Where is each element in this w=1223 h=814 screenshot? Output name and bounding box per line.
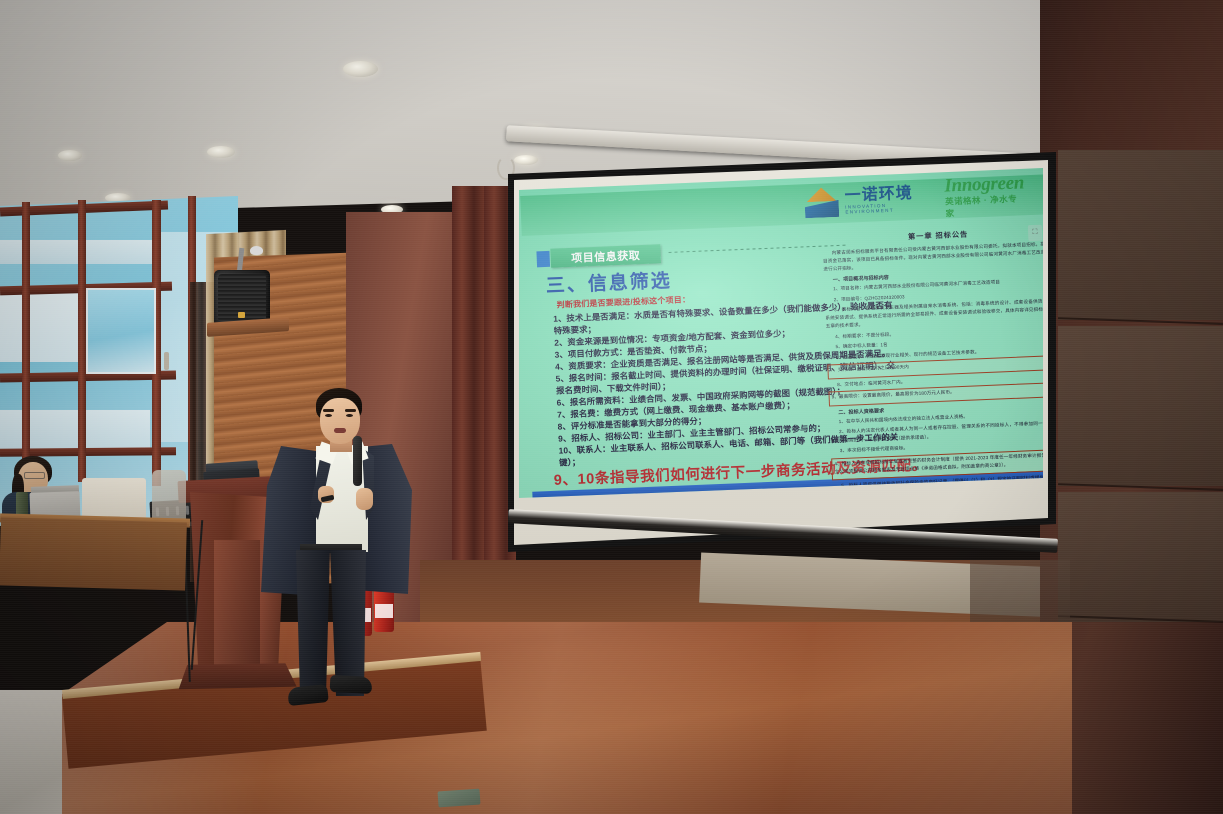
presenter-shoe-right xyxy=(330,675,373,694)
ceiling-camera-icon xyxy=(250,246,263,255)
presenter-hand-right xyxy=(356,488,373,510)
logo-brand-green: Innogreen xyxy=(944,173,1024,195)
window-pane-open xyxy=(86,288,156,374)
floor-access-plate xyxy=(437,789,480,808)
window-frame-vertical xyxy=(78,200,86,482)
presenter-eye xyxy=(325,414,332,417)
desktop-monitor[interactable]: AOC xyxy=(82,478,146,520)
mountain-water-logo-icon xyxy=(804,187,838,218)
ceiling-downlight xyxy=(343,61,378,77)
embedded-document-panel: 第一章 招标公告 内蒙古润禾招标服务平台有限责任公司受内蒙古黄河西部水业股份有限… xyxy=(822,226,1043,498)
speaker-indicator xyxy=(238,312,245,318)
attendee-glasses xyxy=(24,472,45,479)
office-chair xyxy=(152,470,186,520)
ceiling-downlight xyxy=(514,155,538,165)
slide-tag-box: 项目信息获取 xyxy=(550,244,661,267)
acoustic-panel xyxy=(1058,326,1223,486)
logo-brand-en: INNOVATION ENVIRONMENT xyxy=(845,201,933,215)
slide-tag-accent xyxy=(536,251,550,268)
conference-room-photo: 幻灯片 22 / 34 一诺环境 INNOVATION ENVIRONMENT … xyxy=(0,0,1223,814)
microphone[interactable] xyxy=(353,436,362,486)
slide-tag-label: 项目信息获取 xyxy=(571,247,641,266)
fullscreen-icon[interactable]: ⛶ xyxy=(1028,225,1043,242)
presenter-brow xyxy=(345,409,356,412)
window-handle xyxy=(164,352,169,370)
document-paragraph: 4、投标人具有或经招标前年度或者完整的财务会计制度（提供 2021-2023 年… xyxy=(834,451,1043,476)
acoustic-panel xyxy=(970,560,1070,630)
slide-list-item: 键）； xyxy=(559,456,581,469)
extinguisher-label xyxy=(375,604,393,618)
presenter-eye xyxy=(346,414,353,417)
podium-column xyxy=(214,540,260,670)
presenter-brow xyxy=(323,409,334,412)
slide-section-title: 三、信息筛选 xyxy=(545,266,672,298)
slide-dotted-rule xyxy=(669,245,847,253)
company-logo: 一诺环境 INNOVATION ENVIRONMENT Innogreen 英诺… xyxy=(804,173,1026,224)
ceiling-downlight xyxy=(58,150,82,161)
acoustic-panel xyxy=(1058,492,1223,622)
logo-tagline: 英诺格林 · 净水专家 xyxy=(945,192,1026,219)
presenter-mouth xyxy=(334,428,346,433)
projected-slide: 幻灯片 22 / 34 一诺环境 INNOVATION ENVIRONMENT … xyxy=(519,168,1043,498)
acoustic-panel xyxy=(1058,150,1223,320)
window-frame-vertical xyxy=(22,202,30,480)
ceiling-downlight xyxy=(207,146,235,158)
attendee-desk xyxy=(0,517,187,590)
